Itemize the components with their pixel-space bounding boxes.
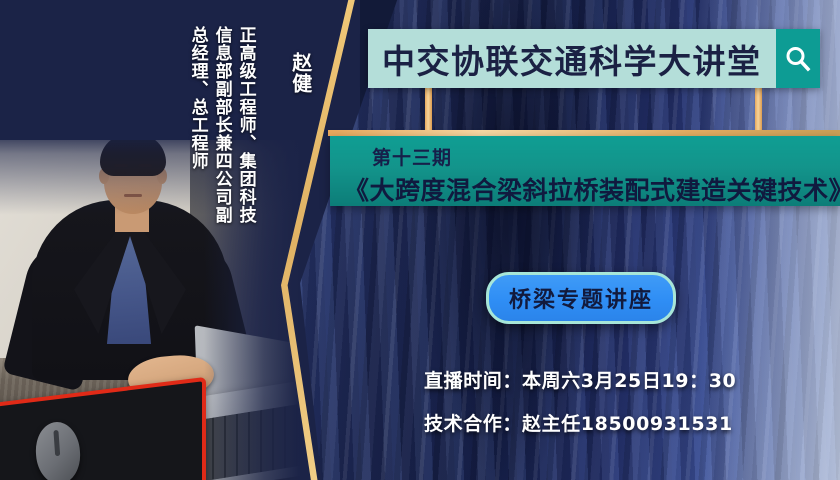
header-sign: 中交协联交通科学大讲堂 <box>368 29 820 88</box>
promo-poster: 总经理、总工程师 信息部副部长兼四公司副 正高级工程师、集团科技 赵健 中交协联… <box>0 0 840 480</box>
title-issue-number: 第十三期 <box>372 143 452 170</box>
sign-leg-right <box>755 88 762 132</box>
topic-badge[interactable]: 桥梁专题讲座 <box>486 272 676 324</box>
sign-leg-left <box>425 88 432 132</box>
topic-badge-label: 桥梁专题讲座 <box>509 282 653 314</box>
speaker-credential-line-3: 总经理、总工程师 <box>188 26 206 170</box>
speaker-name: 赵健 <box>290 52 311 94</box>
live-time-text: 直播时间：本周六3月25日19：30 <box>424 366 736 393</box>
search-icon[interactable] <box>776 29 820 88</box>
header-sign-title: 中交协联交通科学大讲堂 <box>368 35 776 83</box>
contact-text: 技术合作：赵主任18500931531 <box>424 409 733 436</box>
speaker-credential-line-1: 正高级工程师、集团科技 <box>236 26 254 224</box>
speaker-credential-line-2: 信息部副部长兼四公司副 <box>212 26 230 224</box>
title-topic: 《大跨度混合梁斜拉桥装配式建造关键技术》 <box>344 171 840 207</box>
